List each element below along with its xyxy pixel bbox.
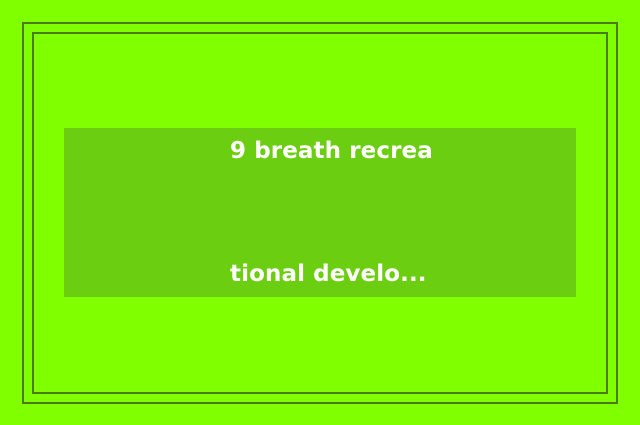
panel-text-line-2: tional develo... (230, 254, 576, 295)
content-panel: 9 breath recrea tional develo... (64, 128, 576, 297)
panel-text-line-1: 9 breath recrea (230, 131, 576, 172)
panel-text-block: 9 breath recrea tional develo... (64, 49, 576, 377)
placeholder-canvas: 9 breath recrea tional develo... (0, 0, 640, 425)
